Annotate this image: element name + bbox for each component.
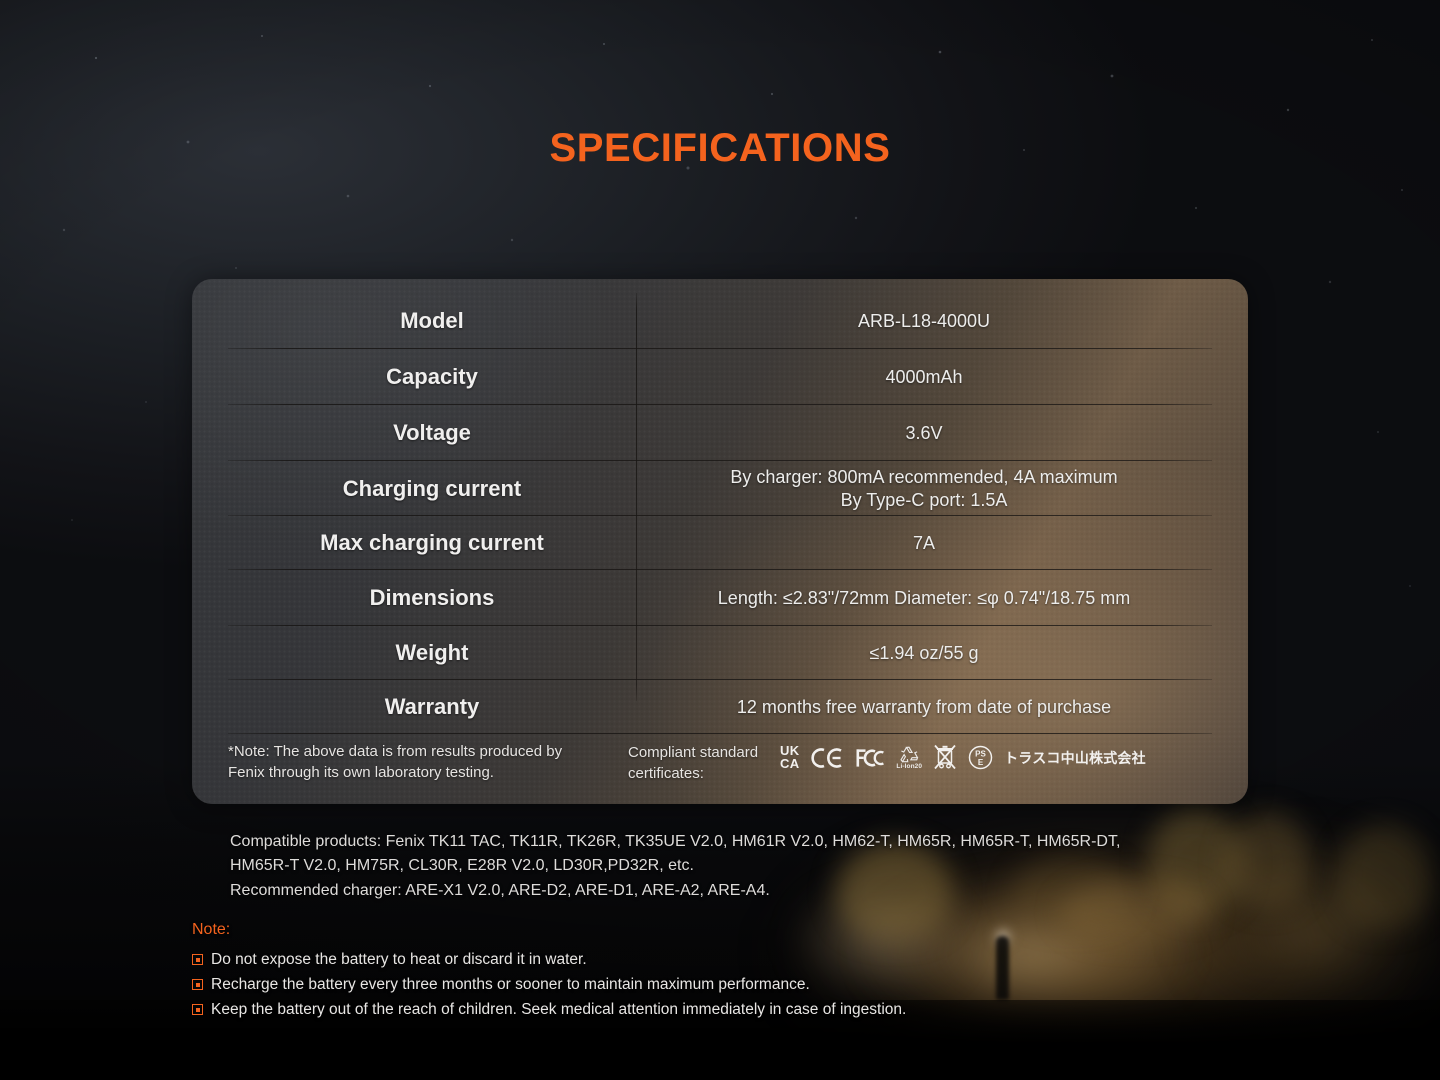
ukca-icon: UK CA [780, 745, 799, 770]
weee-crossed-bin-icon [933, 744, 957, 771]
table-row: Voltage 3.6V [228, 405, 1212, 461]
spec-value: Length: ≤2.83"/72mm Diameter: ≤φ 0.74"/1… [636, 587, 1212, 610]
square-bullet-icon [192, 1004, 203, 1015]
pse-icon: PS E [968, 745, 993, 770]
certificates-label: Compliant standard certificates: [628, 742, 770, 785]
note-item: Do not expose the battery to heat or dis… [192, 947, 1292, 972]
table-row: Charging current By charger: 800mA recom… [228, 461, 1212, 516]
certification-marks: UK CA [780, 742, 1146, 771]
spec-value: 7A [636, 532, 1212, 555]
specifications-panel: Model ARB-L18-4000U Capacity 4000mAh Vol… [192, 279, 1248, 804]
spec-label: Max charging current [228, 530, 636, 556]
panel-footer: *Note: The above data is from results pr… [228, 741, 1212, 799]
note-item-text: Keep the battery out of the reach of chi… [211, 1001, 906, 1019]
laboratory-note-line-2: Fenix through its own laboratory testing… [228, 762, 628, 783]
spec-label: Warranty [228, 694, 636, 720]
recommended-charger-line: Recommended charger: ARE-X1 V2.0, ARE-D2… [230, 879, 1230, 903]
pse-company-name: トラスコ中山株式会社 [1004, 748, 1146, 768]
certificates-block: Compliant standard certificates: UK CA [628, 741, 1146, 785]
table-row: Max charging current 7A [228, 516, 1212, 570]
laboratory-note: *Note: The above data is from results pr… [228, 741, 628, 784]
square-bullet-icon [192, 979, 203, 990]
spec-value-line-1: By charger: 800mA recommended, 4A maximu… [636, 466, 1212, 489]
compatible-products-line-1: Compatible products: Fenix TK11 TAC, TK1… [230, 830, 1230, 854]
note-item-text: Do not expose the battery to heat or dis… [211, 951, 587, 969]
spec-label: Capacity [228, 364, 636, 390]
spec-label: Dimensions [228, 585, 636, 611]
spec-value: 4000mAh [636, 366, 1212, 389]
fcc-icon [855, 747, 885, 769]
mobius-loop-icon [898, 745, 920, 764]
note-heading: Note: [192, 921, 230, 939]
spec-label: Voltage [228, 420, 636, 446]
spec-label: Model [228, 308, 636, 334]
table-row: Warranty 12 months free warranty from da… [228, 680, 1212, 734]
page-title: SPECIFICATIONS [0, 126, 1440, 171]
spec-value: ≤1.94 oz/55 g [636, 642, 1212, 665]
table-row: Dimensions Length: ≤2.83"/72mm Diameter:… [228, 570, 1212, 626]
table-row: Model ARB-L18-4000U [228, 293, 1212, 349]
ukca-icon-line-2: CA [780, 758, 799, 770]
compatible-products-line-2: HM65R-T V2.0, HM75R, CL30R, E28R V2.0, L… [230, 854, 1230, 878]
ce-icon [810, 747, 844, 769]
square-bullet-icon [192, 954, 203, 965]
note-item-text: Recharge the battery every three months … [211, 976, 810, 994]
note-list: Do not expose the battery to heat or dis… [192, 947, 1292, 1022]
certificates-label-line-2: certificates: [628, 763, 770, 784]
table-row: Capacity 4000mAh [228, 349, 1212, 405]
compatibility-block: Compatible products: Fenix TK11 TAC, TK1… [230, 830, 1230, 903]
note-item: Keep the battery out of the reach of chi… [192, 997, 1292, 1022]
recycling-icon: Li-Ion20 [896, 745, 922, 770]
svg-text:E: E [978, 758, 984, 767]
spec-value: ARB-L18-4000U [636, 310, 1212, 333]
spec-value: By charger: 800mA recommended, 4A maximu… [636, 466, 1212, 511]
certificates-label-line-1: Compliant standard [628, 742, 770, 763]
spec-page: SPECIFICATIONS Model ARB-L18-4000U Capac… [0, 0, 1440, 1080]
spec-value: 12 months free warranty from date of pur… [636, 696, 1212, 719]
laboratory-note-line-1: *Note: The above data is from results pr… [228, 741, 628, 762]
recycling-caption: Li-Ion20 [896, 763, 922, 770]
spec-label: Charging current [228, 476, 636, 502]
note-item: Recharge the battery every three months … [192, 972, 1292, 997]
spec-value: 3.6V [636, 422, 1212, 445]
spec-value-line-2: By Type-C port: 1.5A [636, 489, 1212, 512]
table-row: Weight ≤1.94 oz/55 g [228, 626, 1212, 680]
specifications-table: Model ARB-L18-4000U Capacity 4000mAh Vol… [192, 279, 1248, 804]
spec-label: Weight [228, 640, 636, 666]
